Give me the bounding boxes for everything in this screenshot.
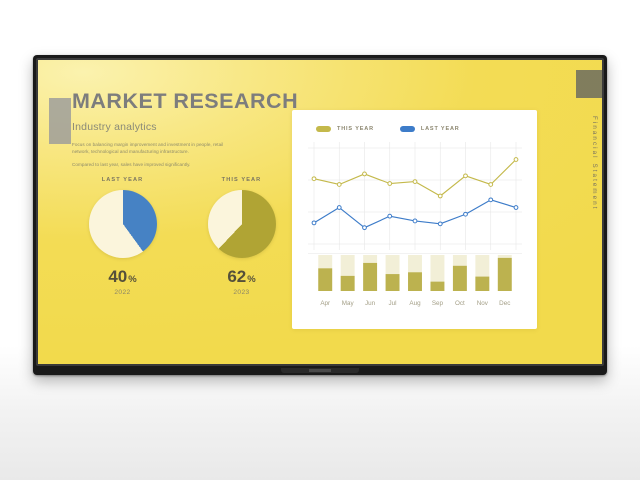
- pie-year-this-year: 2023: [191, 289, 292, 296]
- line-chart: [308, 142, 522, 250]
- monitor-brand-mark: [309, 369, 331, 372]
- svg-text:Jul: Jul: [389, 300, 397, 307]
- monitor-screen: MARKET RESEARCH Industry analytics Focus…: [38, 60, 602, 364]
- percent-symbol-this-year: %: [247, 274, 255, 285]
- pie-value-this-year: 62%: [191, 268, 292, 285]
- pie-block-last-year: LAST YEAR 40% 2022: [72, 177, 173, 296]
- monitor-device: MARKET RESEARCH Industry analytics Focus…: [33, 55, 607, 375]
- svg-text:Aug: Aug: [409, 300, 421, 307]
- pie-label-last-year: LAST YEAR: [72, 177, 173, 183]
- pie-year-last-year: 2022: [72, 289, 173, 296]
- page-title: MARKET RESEARCH: [72, 90, 288, 114]
- slide-left-column: MARKET RESEARCH Industry analytics Focus…: [72, 90, 288, 168]
- chart-legend: THIS YEAR LAST YEAR: [316, 126, 460, 132]
- legend-item-this-year: THIS YEAR: [316, 126, 374, 132]
- pie-chart-this-year: [208, 190, 276, 258]
- title-accent-bar: [49, 98, 71, 144]
- page-subtitle: Industry analytics: [72, 121, 288, 133]
- bar-chart: AprMayJunJulAugSepOctNovDec: [308, 253, 522, 315]
- legend-swatch-this-year: [316, 126, 331, 132]
- svg-text:Oct: Oct: [455, 300, 465, 307]
- svg-text:Apr: Apr: [320, 300, 330, 307]
- pie-number-this-year: 62: [227, 267, 246, 286]
- svg-text:Jun: Jun: [365, 300, 376, 307]
- presentation-slide: MARKET RESEARCH Industry analytics Focus…: [38, 60, 602, 364]
- side-vertical-label: Financial Statement: [591, 116, 598, 211]
- legend-item-last-year: LAST YEAR: [400, 126, 460, 132]
- body-paragraph-2: Compared to last year, sales have improv…: [72, 161, 242, 168]
- percent-symbol-last-year: %: [128, 274, 136, 285]
- pie-number-last-year: 40: [108, 267, 127, 286]
- body-paragraph-1: Focus on balancing margin improvement an…: [72, 141, 242, 155]
- svg-text:May: May: [342, 300, 355, 307]
- legend-label-this-year: THIS YEAR: [337, 126, 374, 132]
- svg-text:Sep: Sep: [432, 300, 444, 307]
- svg-text:Nov: Nov: [477, 300, 489, 307]
- pie-value-last-year: 40%: [72, 268, 173, 285]
- scene: MARKET RESEARCH Industry analytics Focus…: [0, 0, 640, 480]
- pie-label-this-year: THIS YEAR: [191, 177, 292, 183]
- side-accent-block: [576, 70, 602, 98]
- legend-label-last-year: LAST YEAR: [421, 126, 460, 132]
- svg-text:Dec: Dec: [499, 300, 510, 307]
- pie-chart-group: LAST YEAR 40% 2022 THIS YEAR 62% 2023: [72, 177, 292, 296]
- pie-block-this-year: THIS YEAR 62% 2023: [191, 177, 292, 296]
- chart-panel: THIS YEAR LAST YEAR AprMayJunJulAugSepOc…: [292, 110, 537, 329]
- pie-chart-last-year: [89, 190, 157, 258]
- legend-swatch-last-year: [400, 126, 415, 132]
